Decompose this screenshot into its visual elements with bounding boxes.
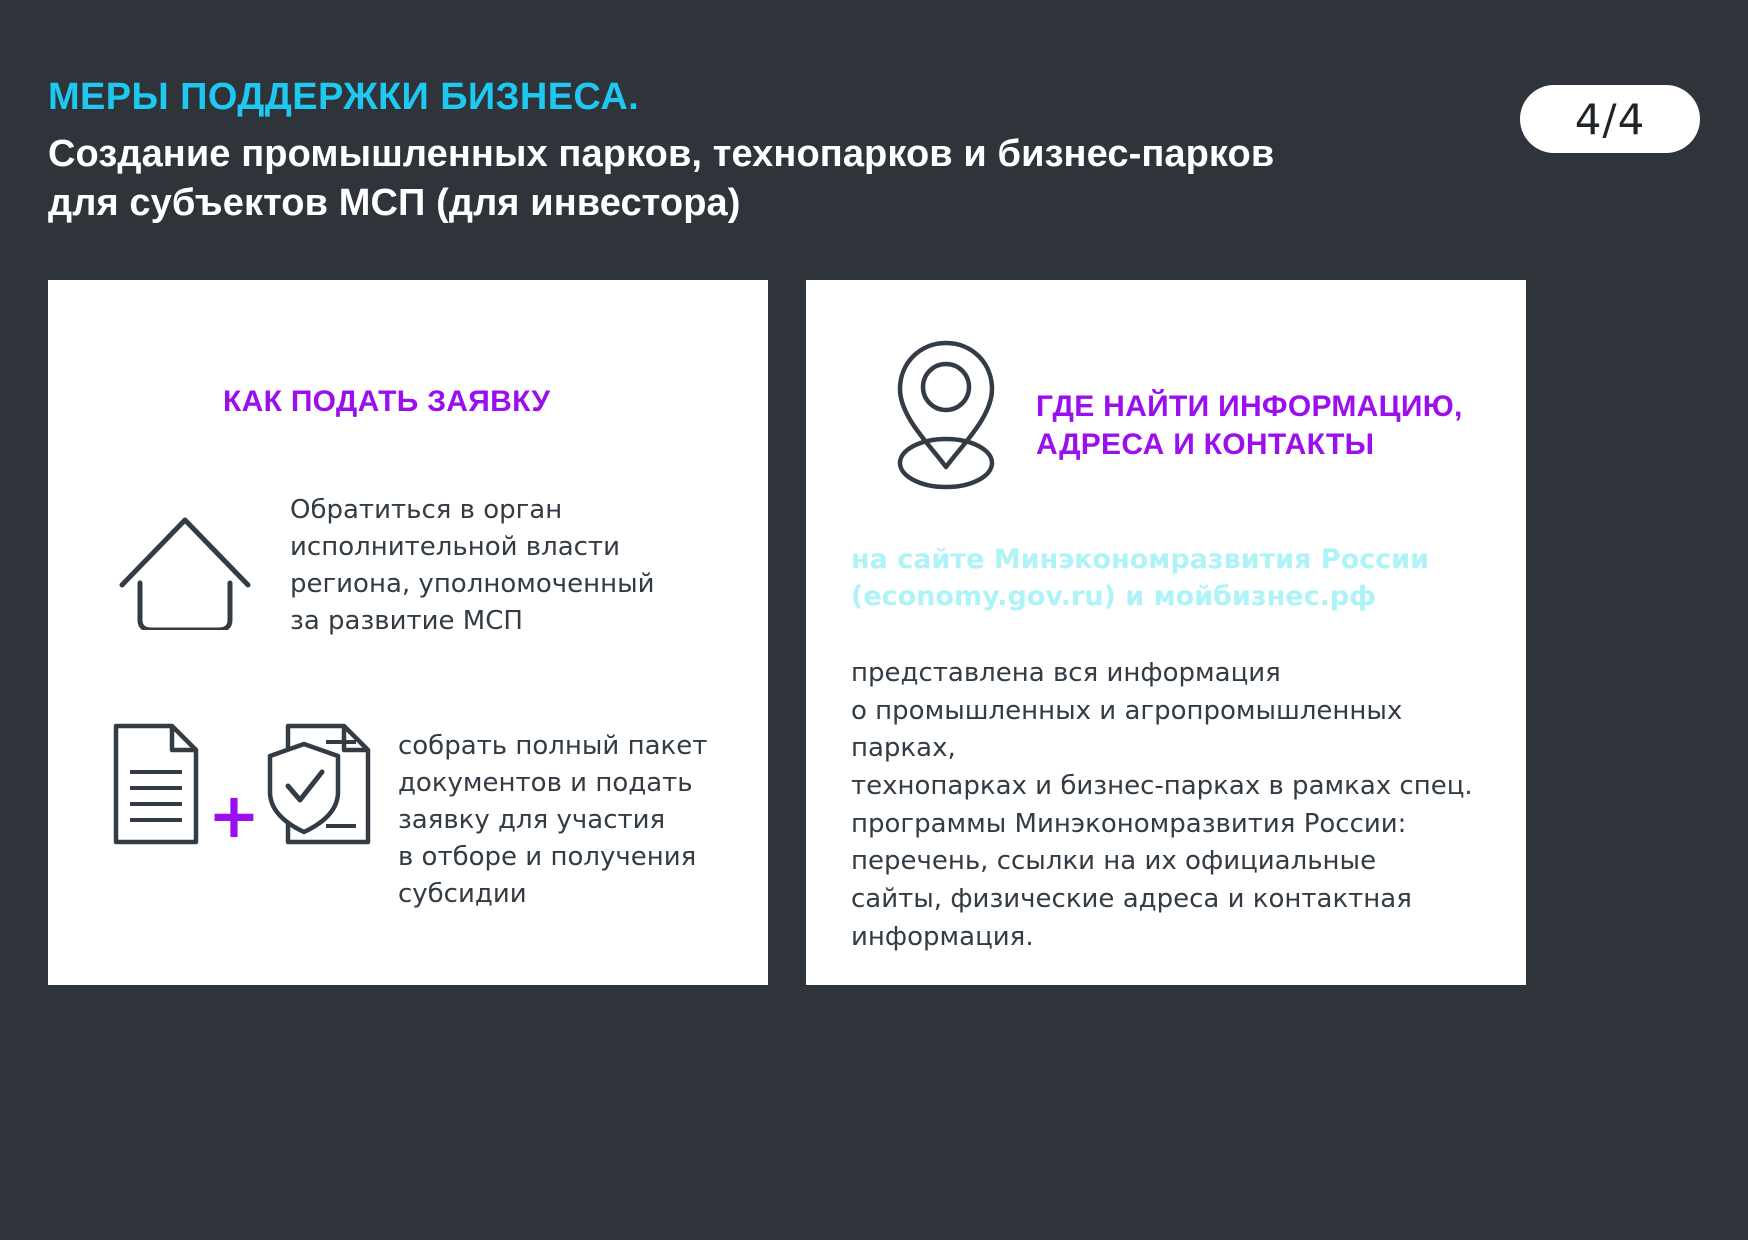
info-source-link[interactable]: на сайте Минэкономразвития России (econo… <box>851 542 1501 615</box>
house-icon <box>110 480 260 630</box>
page-header: МЕРЫ ПОДДЕРЖКИ БИЗНЕСА. Создание промышл… <box>48 78 1468 227</box>
list-item: Обратиться в орган исполнительной власти… <box>110 480 655 640</box>
document-shield-icon <box>266 720 376 848</box>
list-item-text: собрать полный пакет документов и подать… <box>398 728 707 913</box>
page-indicator-label: 4/4 <box>1575 95 1646 144</box>
documents-icon <box>110 720 202 848</box>
card-right-body: представлена вся информация о промышленн… <box>851 655 1511 957</box>
card-right-heading: ГДЕ НАЙТИ ИНФОРМАЦИЮ, АДРЕСА И КОНТАКТЫ <box>1036 388 1486 463</box>
card-where-to-find-info: ГДЕ НАЙТИ ИНФОРМАЦИЮ, АДРЕСА И КОНТАКТЫ … <box>806 280 1526 985</box>
page-indicator-badge: 4/4 <box>1520 85 1700 153</box>
map-pin-icon <box>878 335 1014 500</box>
list-item: + собрать полный пакет документов и пода… <box>110 720 707 913</box>
header-eyebrow: МЕРЫ ПОДДЕРЖКИ БИЗНЕСА. <box>48 78 1468 118</box>
plus-icon: + <box>208 785 260 847</box>
card-left-heading: КАК ПОДАТЬ ЗАЯВКУ <box>223 383 693 421</box>
card-how-to-apply: КАК ПОДАТЬ ЗАЯВКУ Обратиться в орган исп… <box>48 280 768 985</box>
cards-container: КАК ПОДАТЬ ЗАЯВКУ Обратиться в орган исп… <box>48 280 1700 985</box>
list-item-text: Обратиться в орган исполнительной власти… <box>290 492 655 640</box>
page-title: Создание промышленных парков, технопарко… <box>48 130 1348 227</box>
